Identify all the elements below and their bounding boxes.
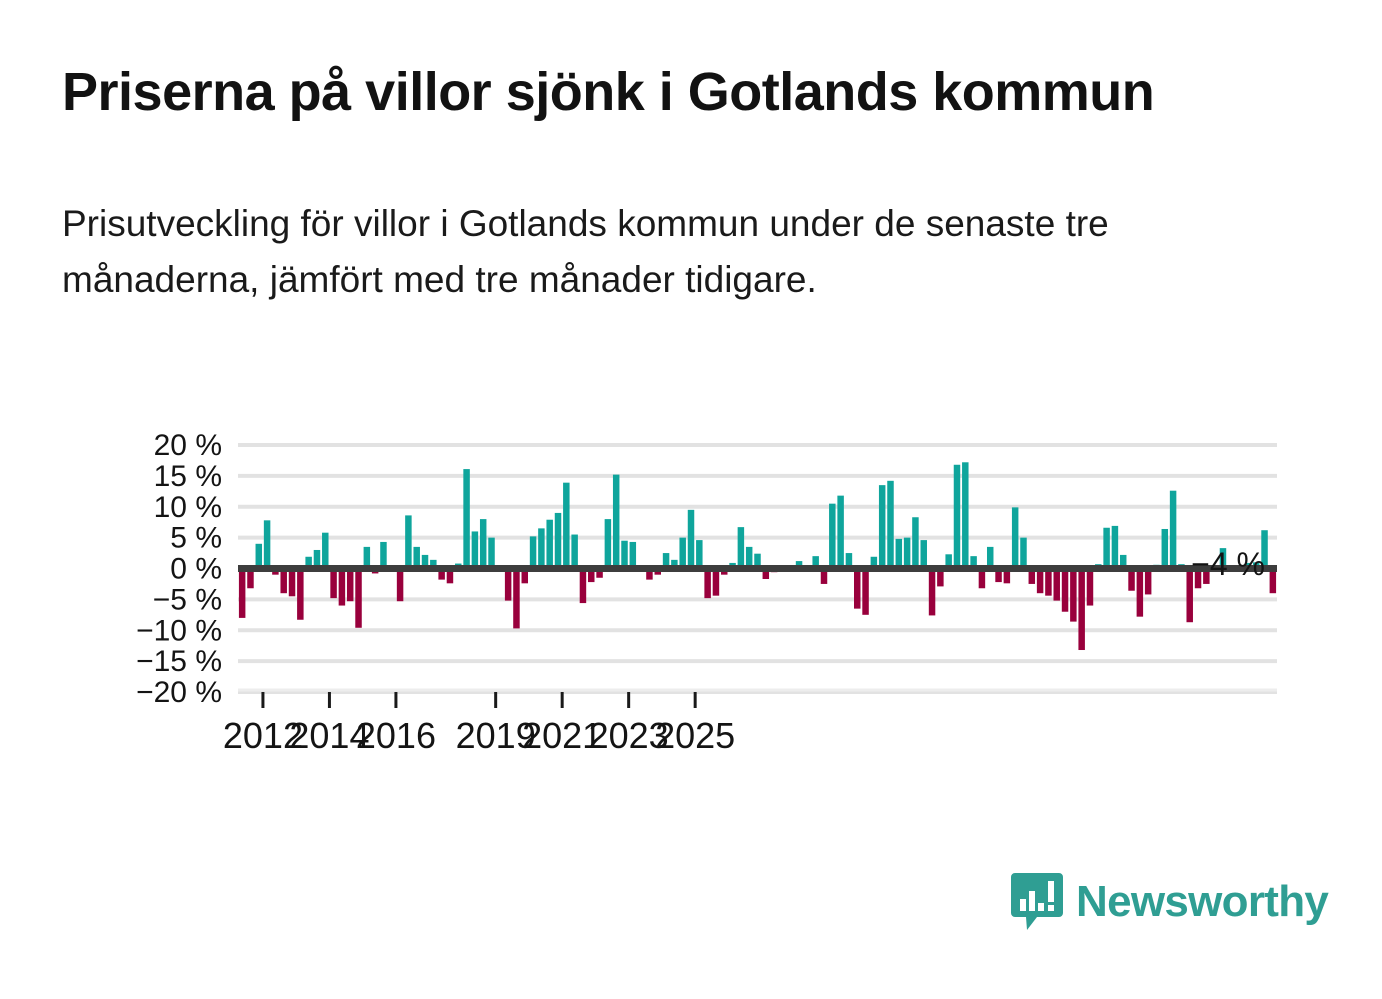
chart-bar [1045, 569, 1051, 596]
chart-bar [264, 520, 270, 568]
bar-chart-speech-bubble-icon [1011, 873, 1063, 931]
chart-bar [1170, 491, 1176, 569]
bar-chart: 20 %15 %10 %5 %0 %−5 %−10 %−15 %−20 % 20… [0, 0, 1382, 999]
x-axis-tick-label: 2016 [356, 715, 436, 756]
chart-bar [480, 519, 486, 568]
chart-annotation-label: −4 % [1191, 546, 1265, 582]
chart-bar [688, 510, 694, 569]
chart-bar [679, 538, 685, 569]
chart-bar [1078, 569, 1084, 651]
annotation-value: −4 % [1191, 546, 1265, 582]
chart-bar [829, 504, 835, 569]
chart-bar [538, 528, 544, 568]
y-axis-tick-label: 10 % [154, 491, 222, 524]
chart-bar [920, 540, 926, 568]
chart-bar [929, 569, 935, 616]
chart-bar [887, 481, 893, 569]
chart-bar [912, 517, 918, 568]
chart-bar [239, 569, 245, 618]
chart-bar [1053, 569, 1059, 601]
chart-bar [879, 485, 885, 568]
chart-bar [854, 569, 860, 609]
chart-bar [713, 569, 719, 596]
y-axis-tick-label: 15 % [154, 460, 222, 493]
chart-bar [355, 569, 361, 628]
chart-bar [1020, 538, 1026, 569]
newsworthy-logo[interactable]: Newsworthy [1011, 873, 1328, 931]
chart-bar [837, 496, 843, 569]
chart-bar [1145, 569, 1151, 595]
chart-bar [954, 465, 960, 569]
chart-bar [1103, 528, 1109, 569]
chart-bar [904, 538, 910, 569]
chart-bar [621, 541, 627, 569]
chart-bar [580, 569, 586, 604]
y-axis-tick-label: −10 % [136, 614, 222, 647]
chart-bar [704, 569, 710, 599]
chart-bar [630, 542, 636, 569]
chart-bar [322, 533, 328, 569]
chart-bar [1070, 569, 1076, 622]
chart-bar [297, 569, 303, 620]
y-axis-tick-label: 0 % [170, 553, 222, 586]
chart-canvas: 20 %15 %10 %5 %0 %−5 %−10 %−15 %−20 % 20… [0, 0, 1382, 999]
chart-bar [571, 535, 577, 569]
chart-bar [1062, 569, 1068, 612]
y-axis-tick-label: 5 % [170, 522, 222, 555]
chart-bar [1137, 569, 1143, 617]
chart-bar [463, 469, 469, 568]
chart-bar [896, 539, 902, 569]
chart-bar [513, 569, 519, 629]
chart-bar [1112, 526, 1118, 569]
chart-bar [488, 538, 494, 569]
chart-bar [1087, 569, 1093, 606]
chart-bar [256, 544, 262, 569]
y-axis-tick-label: −20 % [136, 676, 222, 709]
x-axis-tick-label: 2025 [655, 715, 735, 756]
chart-bar [862, 569, 868, 615]
chart-bar [563, 483, 569, 569]
logo-wordmark: Newsworthy [1076, 880, 1328, 924]
chart-bar [530, 536, 536, 568]
y-axis-tick-label: −15 % [136, 645, 222, 678]
chart-bar [613, 475, 619, 569]
chart-y-axis-labels: 20 %15 %10 %5 %0 %−5 %−10 %−15 %−20 % [136, 429, 222, 709]
chart-bar [696, 540, 702, 568]
chart-bar [339, 569, 345, 606]
chart-bar [380, 542, 386, 569]
infographic-page: Priserna på villor sjönk i Gotlands komm… [0, 0, 1382, 999]
chart-bar [605, 519, 611, 568]
chart-bar [397, 569, 403, 602]
chart-x-axis-labels: 2012201420162019202120232025 [223, 715, 735, 756]
chart-bars [239, 462, 1276, 650]
y-axis-tick-label: −5 % [153, 583, 222, 616]
chart-bar [505, 569, 511, 601]
chart-bar [1270, 569, 1276, 594]
y-axis-tick-label: 20 % [154, 429, 222, 462]
chart-bar [1037, 569, 1043, 594]
chart-bar [1012, 507, 1018, 568]
chart-bar [738, 527, 744, 568]
chart-bar [546, 520, 552, 569]
chart-bar [280, 569, 286, 594]
chart-bar [405, 515, 411, 568]
chart-bar [962, 462, 968, 568]
chart-bar [330, 569, 336, 599]
chart-bar [1162, 529, 1168, 569]
chart-bar [289, 569, 295, 597]
chart-bar [347, 569, 353, 602]
chart-bar [555, 513, 561, 569]
chart-bar [472, 531, 478, 568]
